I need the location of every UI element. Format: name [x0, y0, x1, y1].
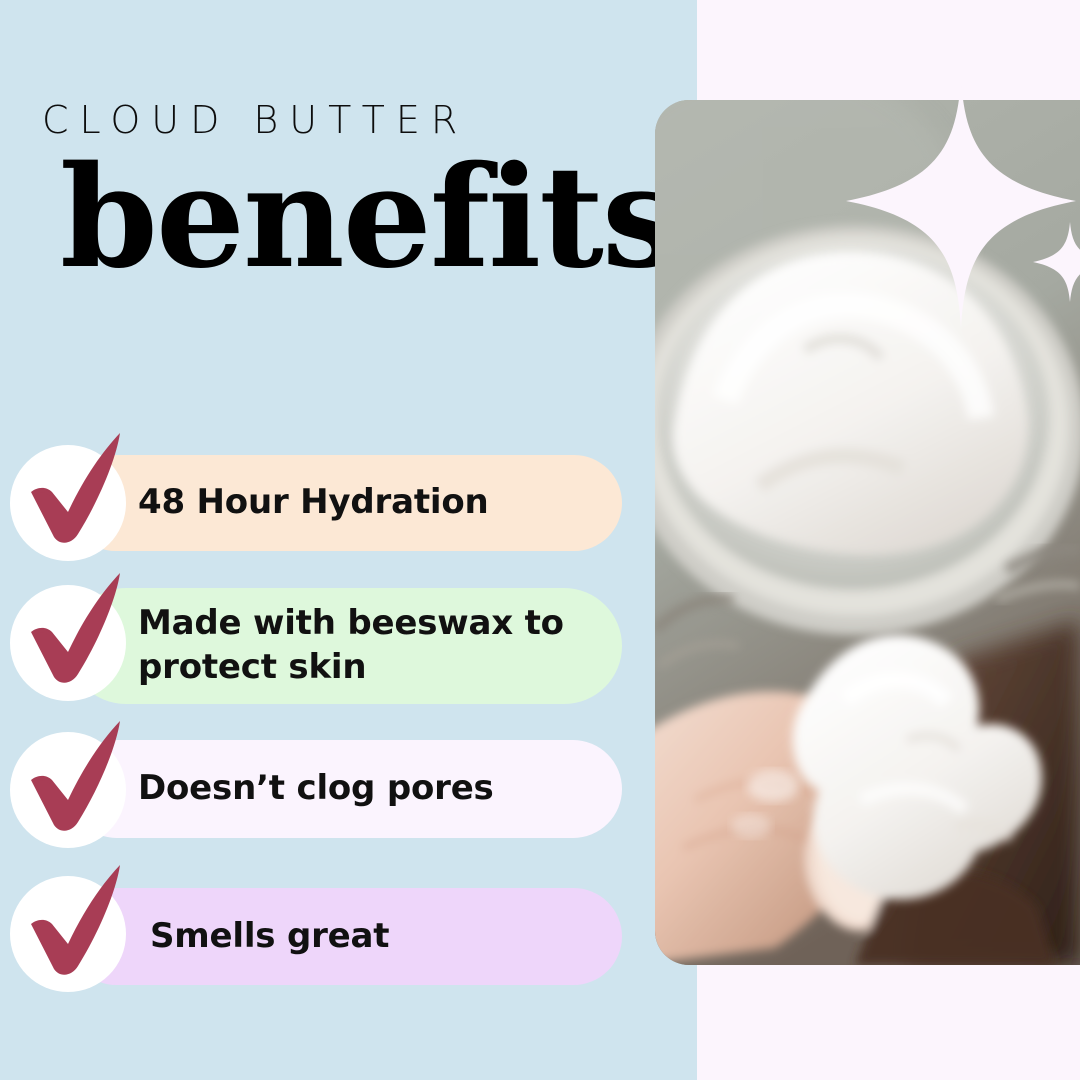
check-badge-scent — [10, 876, 126, 992]
benefit-pill-beeswax: Made with beeswax to protect skin — [68, 588, 622, 704]
page-title: benefits — [60, 148, 679, 288]
check-badge-non-comedogenic — [10, 732, 126, 848]
benefit-label-hydration: 48 Hour Hydration — [138, 481, 489, 525]
benefit-label-beeswax: Made with beeswax to protect skin — [138, 602, 594, 689]
benefit-pill-scent: Smells great — [68, 888, 622, 985]
benefit-label-non-comedogenic: Doesn’t clog pores — [138, 767, 494, 811]
benefit-label-scent: Smells great — [150, 915, 389, 959]
poster-canvas: CLOUD BUTTER benefits — [0, 0, 1080, 1080]
product-photo-image — [655, 100, 1080, 965]
benefit-pill-hydration: 48 Hour Hydration — [68, 455, 622, 551]
eyebrow-text: CLOUD BUTTER — [42, 101, 468, 139]
check-badge-beeswax — [10, 585, 126, 701]
product-photo — [655, 100, 1080, 965]
benefit-pill-non-comedogenic: Doesn’t clog pores — [68, 740, 622, 838]
check-badge-hydration — [10, 445, 126, 561]
